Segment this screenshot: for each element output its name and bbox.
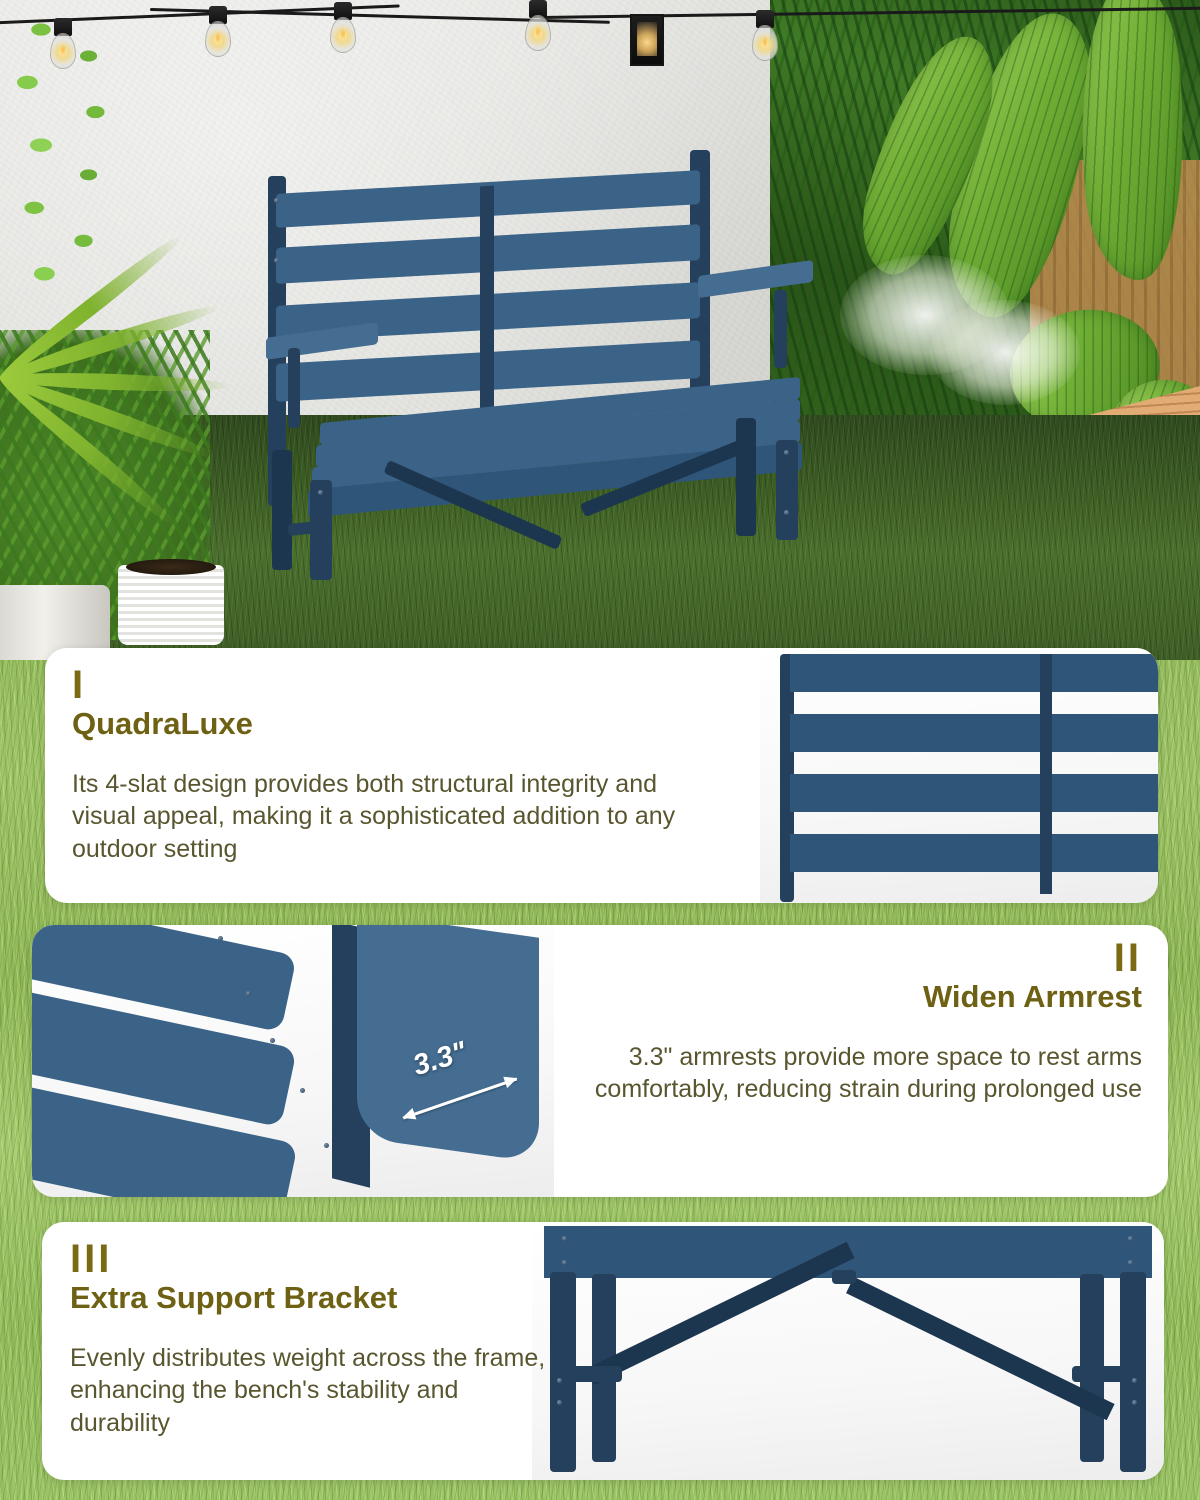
bulb-filament bbox=[536, 24, 540, 40]
edison-bulb bbox=[330, 2, 356, 56]
support-bracket-arm bbox=[846, 1277, 1115, 1420]
screw bbox=[274, 258, 279, 263]
bulb-filament bbox=[341, 26, 345, 42]
screw bbox=[274, 198, 279, 203]
edison-bulb bbox=[525, 0, 551, 54]
screw bbox=[562, 1236, 567, 1241]
feature-panel-1: I QuadraLuxe Its 4-slat design provides … bbox=[45, 648, 1158, 903]
palm-frond bbox=[0, 230, 186, 384]
pampas-grass bbox=[930, 300, 1080, 405]
edison-bulb bbox=[205, 6, 231, 60]
feature-3-image bbox=[532, 1222, 1164, 1480]
feature-2-title: Widen Armrest bbox=[552, 979, 1142, 1015]
bracket-foot-rail bbox=[556, 1366, 622, 1382]
bench-leg-back-right bbox=[736, 418, 756, 536]
screw bbox=[1128, 1236, 1133, 1241]
bench-arm-support-right bbox=[774, 290, 787, 368]
screw bbox=[1132, 1400, 1137, 1405]
screw bbox=[784, 510, 789, 515]
edison-bulb bbox=[752, 10, 778, 64]
bench-arm-support-left bbox=[288, 348, 300, 428]
feature-2-image: 3.3" bbox=[32, 925, 554, 1197]
screw bbox=[300, 1088, 305, 1093]
bench-armrest-right bbox=[698, 260, 813, 298]
bulb-filament bbox=[763, 34, 767, 50]
feature-1-body: Its 4-slat design provides both structur… bbox=[72, 768, 712, 866]
screw bbox=[1128, 1260, 1133, 1265]
bracket-foot-rail bbox=[1072, 1366, 1138, 1382]
bulb-filament bbox=[216, 30, 220, 46]
screw bbox=[562, 1260, 567, 1265]
bench-leg-back-left bbox=[272, 450, 292, 570]
feature-1-text: I QuadraLuxe Its 4-slat design provides … bbox=[72, 666, 712, 865]
screw bbox=[246, 991, 251, 996]
screw bbox=[318, 490, 323, 495]
feature-panel-2: 3.3" II Widen Armrest 3.3" armrests prov… bbox=[32, 925, 1168, 1197]
screw bbox=[218, 936, 223, 941]
garden-bench-product bbox=[258, 150, 838, 580]
palm-frond bbox=[0, 372, 181, 532]
backrest-center-stile bbox=[1040, 654, 1052, 894]
feature-panel-3: III Extra Support Bracket Evenly distrib… bbox=[42, 1222, 1164, 1480]
backrest-slat bbox=[790, 714, 1158, 752]
white-planter-pot bbox=[118, 565, 224, 645]
screw bbox=[270, 1038, 275, 1043]
backrest-slat bbox=[790, 834, 1158, 872]
feature-3-title: Extra Support Bracket bbox=[70, 1280, 560, 1316]
hanging-lantern bbox=[630, 14, 664, 66]
feature-1-title: QuadraLuxe bbox=[72, 706, 712, 742]
feature-2-body: 3.3" armrests provide more space to rest… bbox=[552, 1041, 1142, 1106]
feature-1-numeral: I bbox=[72, 666, 712, 704]
feature-2-numeral: II bbox=[552, 939, 1142, 977]
feature-3-text: III Extra Support Bracket Evenly distrib… bbox=[70, 1240, 560, 1439]
feature-2-text: II Widen Armrest 3.3" armrests provide m… bbox=[552, 939, 1142, 1106]
feature-3-numeral: III bbox=[70, 1240, 560, 1278]
screw bbox=[1132, 1378, 1137, 1383]
backrest-slat bbox=[790, 774, 1158, 812]
feature-3-body: Evenly distributes weight across the fra… bbox=[70, 1342, 560, 1440]
bracket-center-cap bbox=[832, 1270, 856, 1284]
bench-leg-front-right bbox=[776, 440, 798, 540]
backrest-slat bbox=[790, 654, 1158, 692]
hero-product-photo bbox=[0, 0, 1200, 660]
screw bbox=[784, 450, 789, 455]
screw bbox=[324, 1143, 329, 1148]
product-feature-infographic: I QuadraLuxe Its 4-slat design provides … bbox=[0, 0, 1200, 1500]
feature-1-image bbox=[760, 648, 1158, 903]
